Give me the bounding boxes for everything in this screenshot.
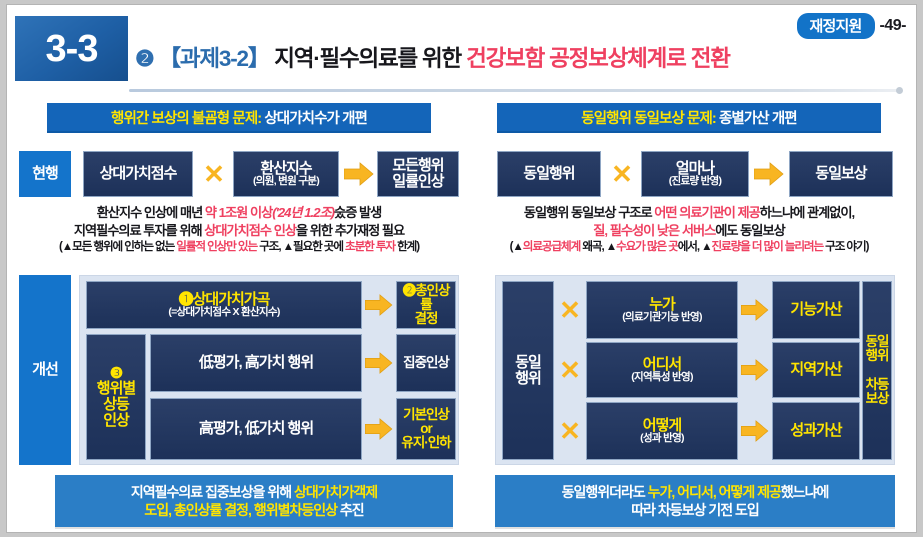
right-column: 동일행위 동일보상 문제: 종별가산 개편 동일행위 ✕ 얼마나 (진료량 반영…: [469, 103, 909, 533]
right-current-box-2: 얼마나 (진료량 반영): [641, 151, 749, 197]
multiply-icon: ✕: [603, 151, 641, 197]
right-note-line-3: (▲의료공급체계 왜곡, ▲수요가 많은 곳에서, ▲진료량을 더 많이 늘리려…: [469, 239, 909, 254]
header-divider: [129, 89, 901, 92]
right-section-title-highlight: 동일행위 동일보상 문제:: [581, 111, 716, 127]
right-arrow-icon: [362, 398, 396, 460]
left-improve-row2-out: 집중인상: [396, 334, 456, 392]
left-conclusion-line-2: 도입, 총인상률 결정, 행위별차등인상 추진: [144, 501, 363, 519]
right-current-box-3: 동일보상: [789, 151, 893, 197]
multiply-icon: ✕: [554, 281, 586, 339]
left-conclusion-bar: 지역필수의료 집중보상을 위해 상대가치가객제 도입, 총인상률 결정, 행위별…: [55, 475, 453, 527]
right-arrow-icon: [738, 402, 772, 460]
right-improve-row-2-out: 지역가산: [772, 342, 860, 398]
slide-header: 3-3 ❷ 【과제3-2】 지역·필수의료를 위한 건강보함 공정보상체계로 전…: [7, 5, 916, 97]
multiply-icon: ✕: [554, 402, 586, 460]
left-improve-price-box: ❶상대가치가곡 (=상대가치점수 X 환산지수): [86, 281, 362, 329]
right-improve-tail-box: 동일 행위 차등 보상: [862, 281, 892, 460]
left-improve-row3-box: 高평가, 低가치 행위: [150, 398, 362, 460]
right-improve-row-3-out: 성과가산: [772, 402, 860, 460]
title-main: 지역·필수의료를 위한: [274, 46, 466, 71]
left-current-box-2: 환산지수 (의원, 변원 구분): [233, 151, 339, 197]
multiply-icon: ✕: [195, 151, 233, 197]
left-improve-row2-box: 低평가, 高가치 행위: [150, 334, 362, 392]
right-arrow-icon: [341, 151, 377, 197]
right-section-title-bar: 동일행위 동일보상 문제: 종별가산 개편: [497, 103, 881, 131]
right-arrow-icon: [362, 334, 396, 392]
left-current-box-3: 모든행위 일률인상: [377, 151, 459, 197]
right-arrow-icon: [738, 281, 772, 339]
right-conclusion-line-2: 따라 차등보상 기전 도입: [631, 501, 758, 519]
left-note-line-2: 지역필수의료 투자를 위해 상대가치점수 인상을 위한 추가재정 필요: [19, 222, 459, 240]
right-improve-row-1-out: 기능가산: [772, 281, 860, 339]
right-improve-row-2-mid: 어디서 (지역특성 반영): [586, 342, 738, 398]
left-notes: 환산지수 인상에 매년 약 1조원 이상('24년 1.2조)숬증 발생 지역필…: [19, 204, 459, 255]
left-improve-total-rate-box: ❷총인상률 결정: [396, 281, 456, 329]
left-current-label: 현행: [19, 151, 71, 197]
left-improvement-panel: ❶상대가치가곡 (=상대가치점수 X 환산지수) ❷총인상률 결정 ❸ 행위별 …: [79, 275, 459, 465]
right-notes: 동일행위 동일보상 구조로 어떤 의료기관이 제공하느냐에 관계없이, 질, 필…: [469, 204, 909, 255]
right-conclusion-line-1: 동일행위더라도 누가, 어디서, 어떻게 제공했느냐에: [562, 483, 829, 501]
section-tag-box: 3-3: [15, 16, 128, 81]
right-arrow-icon: [751, 151, 787, 197]
right-section-title-rest: 종별가산 개편: [716, 111, 797, 127]
slide: 3-3 ❷ 【과제3-2】 지역·필수의료를 위한 건강보함 공정보상체계로 전…: [6, 4, 917, 533]
left-section-title-highlight: 행위간 보상의 불굠형 문제:: [111, 111, 261, 127]
right-improve-row-1-mid: 누가 (의료기관기능 반영): [586, 281, 738, 339]
right-improve-row-3-mid: 어떻게 (성과 반영): [586, 402, 738, 460]
right-note-line-2: 질, 필수성이 낮은 서버스에도 동일보상: [469, 222, 909, 240]
right-improvement-panel: 동일 행위 ✕ 누가 (의료기관기능 반영) 기능가산 ✕ 어디서: [495, 275, 895, 465]
left-section-title-rest: 상대가치수가 개편: [261, 111, 367, 127]
left-column: 행위간 보상의 불굠형 문제: 상대가치수가 개편 현행 상대가치점수 ✕ 환산…: [19, 103, 459, 533]
left-note-line-3: (▲모든 행위에 인하는 없는 일률적 인상만 있는 구조, ▲필요한 곳에 초…: [19, 239, 459, 254]
left-current-box-1: 상대가치점수: [83, 151, 193, 197]
left-improve-label: 개선: [19, 275, 71, 465]
left-conclusion-line-1: 지역필수의료 집중보상을 위해 상대가치가객제: [131, 483, 377, 501]
right-arrow-icon: [738, 342, 772, 398]
title-emphasis: 건강보함 공정보상체계로 전환: [466, 46, 730, 71]
left-section-title-bar: 행위간 보상의 불굠형 문제: 상대가치수가 개편: [47, 103, 431, 131]
right-conclusion-bar: 동일행위더라도 누가, 어디서, 어떻게 제공했느냐에 따라 차등보상 기전 도…: [495, 475, 895, 527]
right-current-box-1: 동일행위: [497, 151, 601, 197]
status-badge: 재정지원: [797, 13, 875, 39]
right-note-line-1: 동일행위 동일보상 구조로 어떤 의료기관이 제공하느냐에 관계없이,: [469, 204, 909, 222]
page-number: -49-: [880, 17, 906, 35]
section-tag-label: 3-3: [46, 30, 98, 68]
left-note-line-1: 환산지수 인상에 매년 약 1조원 이상('24년 1.2조)숬증 발생: [19, 204, 459, 222]
left-improve-tier-box: ❸ 행위별 상등 인상: [86, 334, 146, 460]
page-title: ❷ 【과제3-2】 지역·필수의료를 위한 건강보함 공정보상체계로 전환: [135, 41, 730, 73]
left-improve-row3-out: 기본인상 or 유지·인하: [396, 398, 456, 460]
header-badge-group: 재정지원 -49-: [797, 13, 906, 39]
right-arrow-icon: [362, 281, 396, 329]
title-marker-icon: ❷: [135, 46, 154, 72]
title-task-code: 【과제3-2】: [159, 46, 270, 71]
right-improve-sameact-box: 동일 행위: [502, 281, 554, 460]
multiply-icon: ✕: [554, 342, 586, 398]
